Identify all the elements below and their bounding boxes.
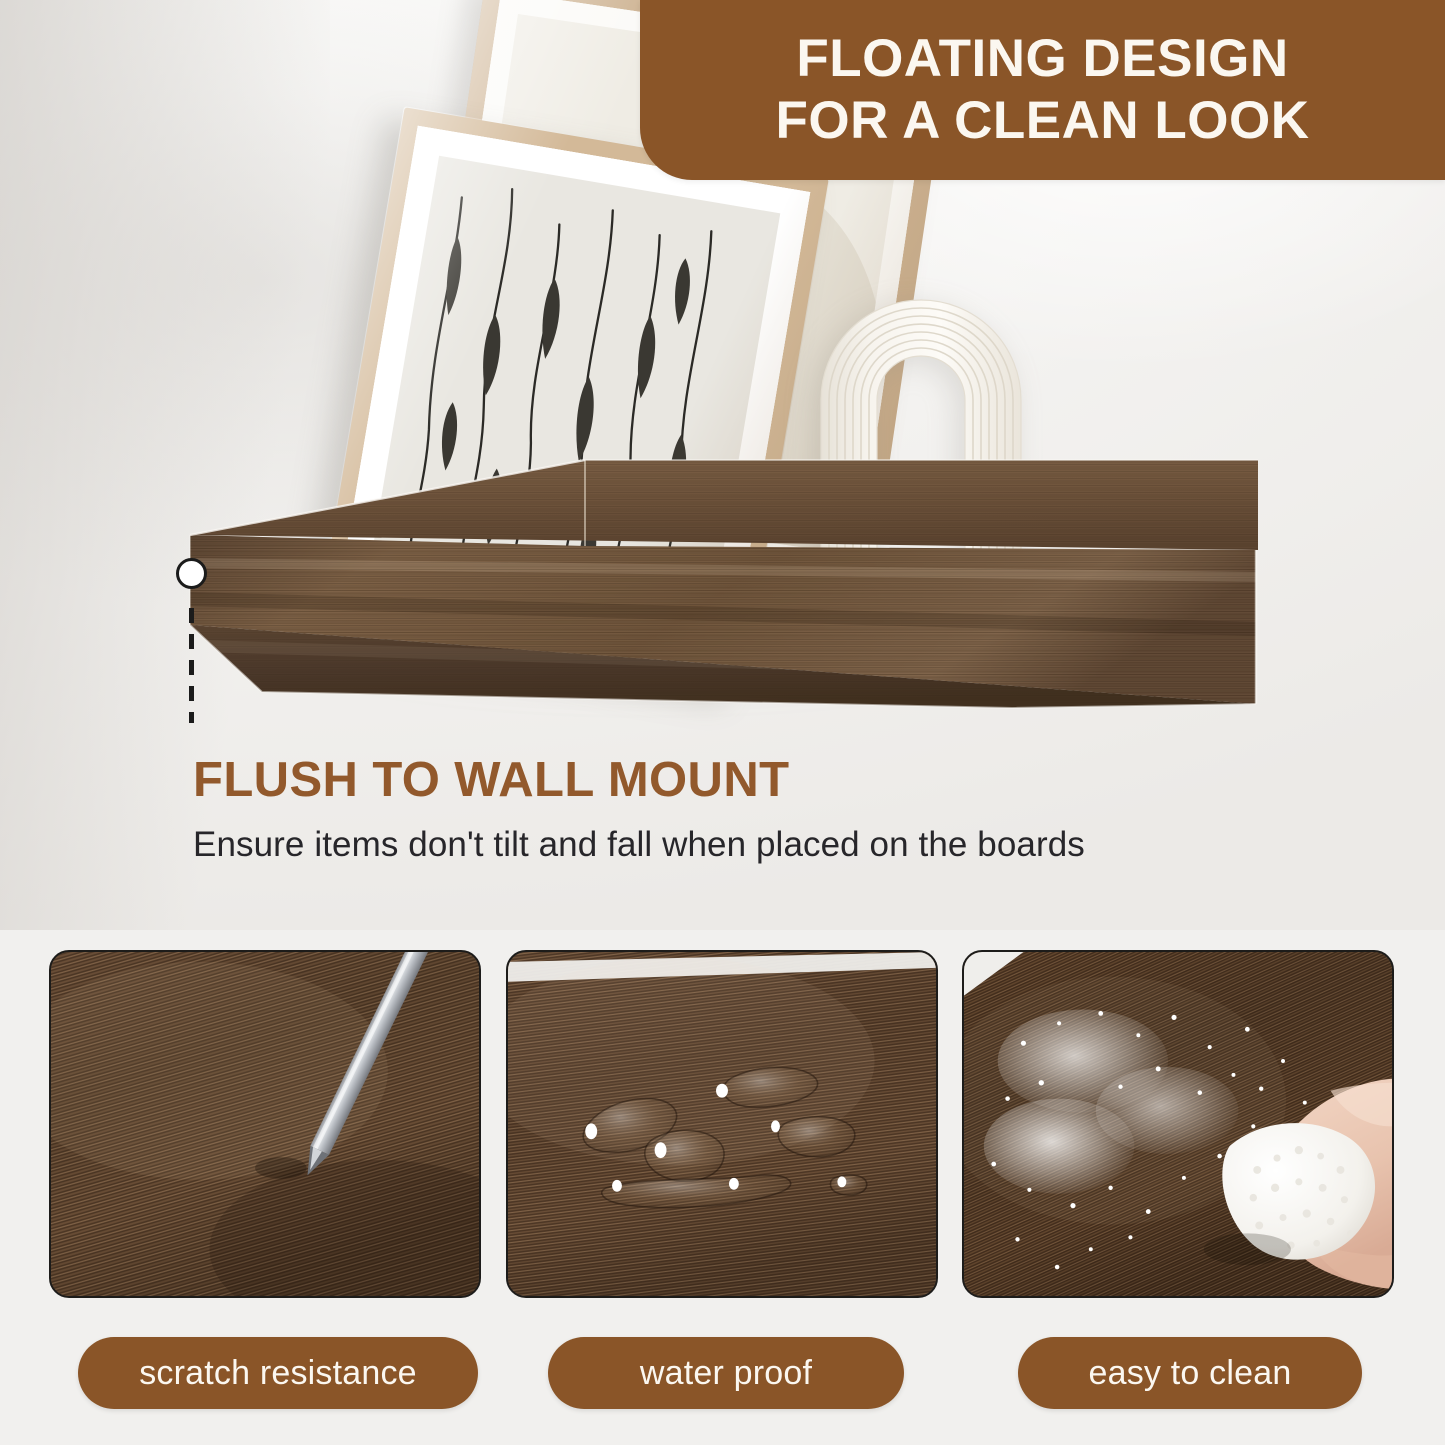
feature-label-easy-to-clean[interactable]: easy to clean [1018,1337,1362,1409]
headline-banner: FLOATING DESIGN FOR A CLEAN LOOK [640,0,1445,180]
feature-label-scratch-resistance[interactable]: scratch resistance [78,1337,478,1409]
banner-line-2: FOR A CLEAN LOOK [775,90,1309,152]
feature-label-row: scratch resistance water proof easy to c… [0,1337,1445,1417]
feature-label-water-proof[interactable]: water proof [548,1337,904,1409]
feature-panel-row [0,950,1445,1310]
feature-headline: FLUSH TO WALL MOUNT [193,752,789,808]
feature-panel-easy-to-clean [962,950,1394,1298]
water-droplets-on-wood-photo [508,952,936,1297]
feature-label-text: easy to clean [1089,1354,1292,1393]
dashed-leader-line-icon [189,608,194,723]
feature-subline: Ensure items don't tilt and fall when pl… [193,825,1085,865]
product-infographic: FLOATING DESIGN FOR A CLEAN LOOK FLUSH T… [0,0,1445,1445]
feature-label-text: scratch resistance [139,1354,417,1393]
callout-dot-icon [176,558,207,589]
floating-wood-shelf [0,440,1300,740]
hero-photo: FLOATING DESIGN FOR A CLEAN LOOK FLUSH T… [0,0,1445,930]
feature-panel-water-proof [506,950,938,1298]
banner-line-1: FLOATING DESIGN [796,28,1288,90]
feature-panel-scratch-resistance [49,950,481,1298]
screwdriver-tip-on-wood-photo [51,952,479,1297]
hand-wiping-powder-photo [964,952,1392,1297]
feature-label-text: water proof [640,1354,812,1393]
